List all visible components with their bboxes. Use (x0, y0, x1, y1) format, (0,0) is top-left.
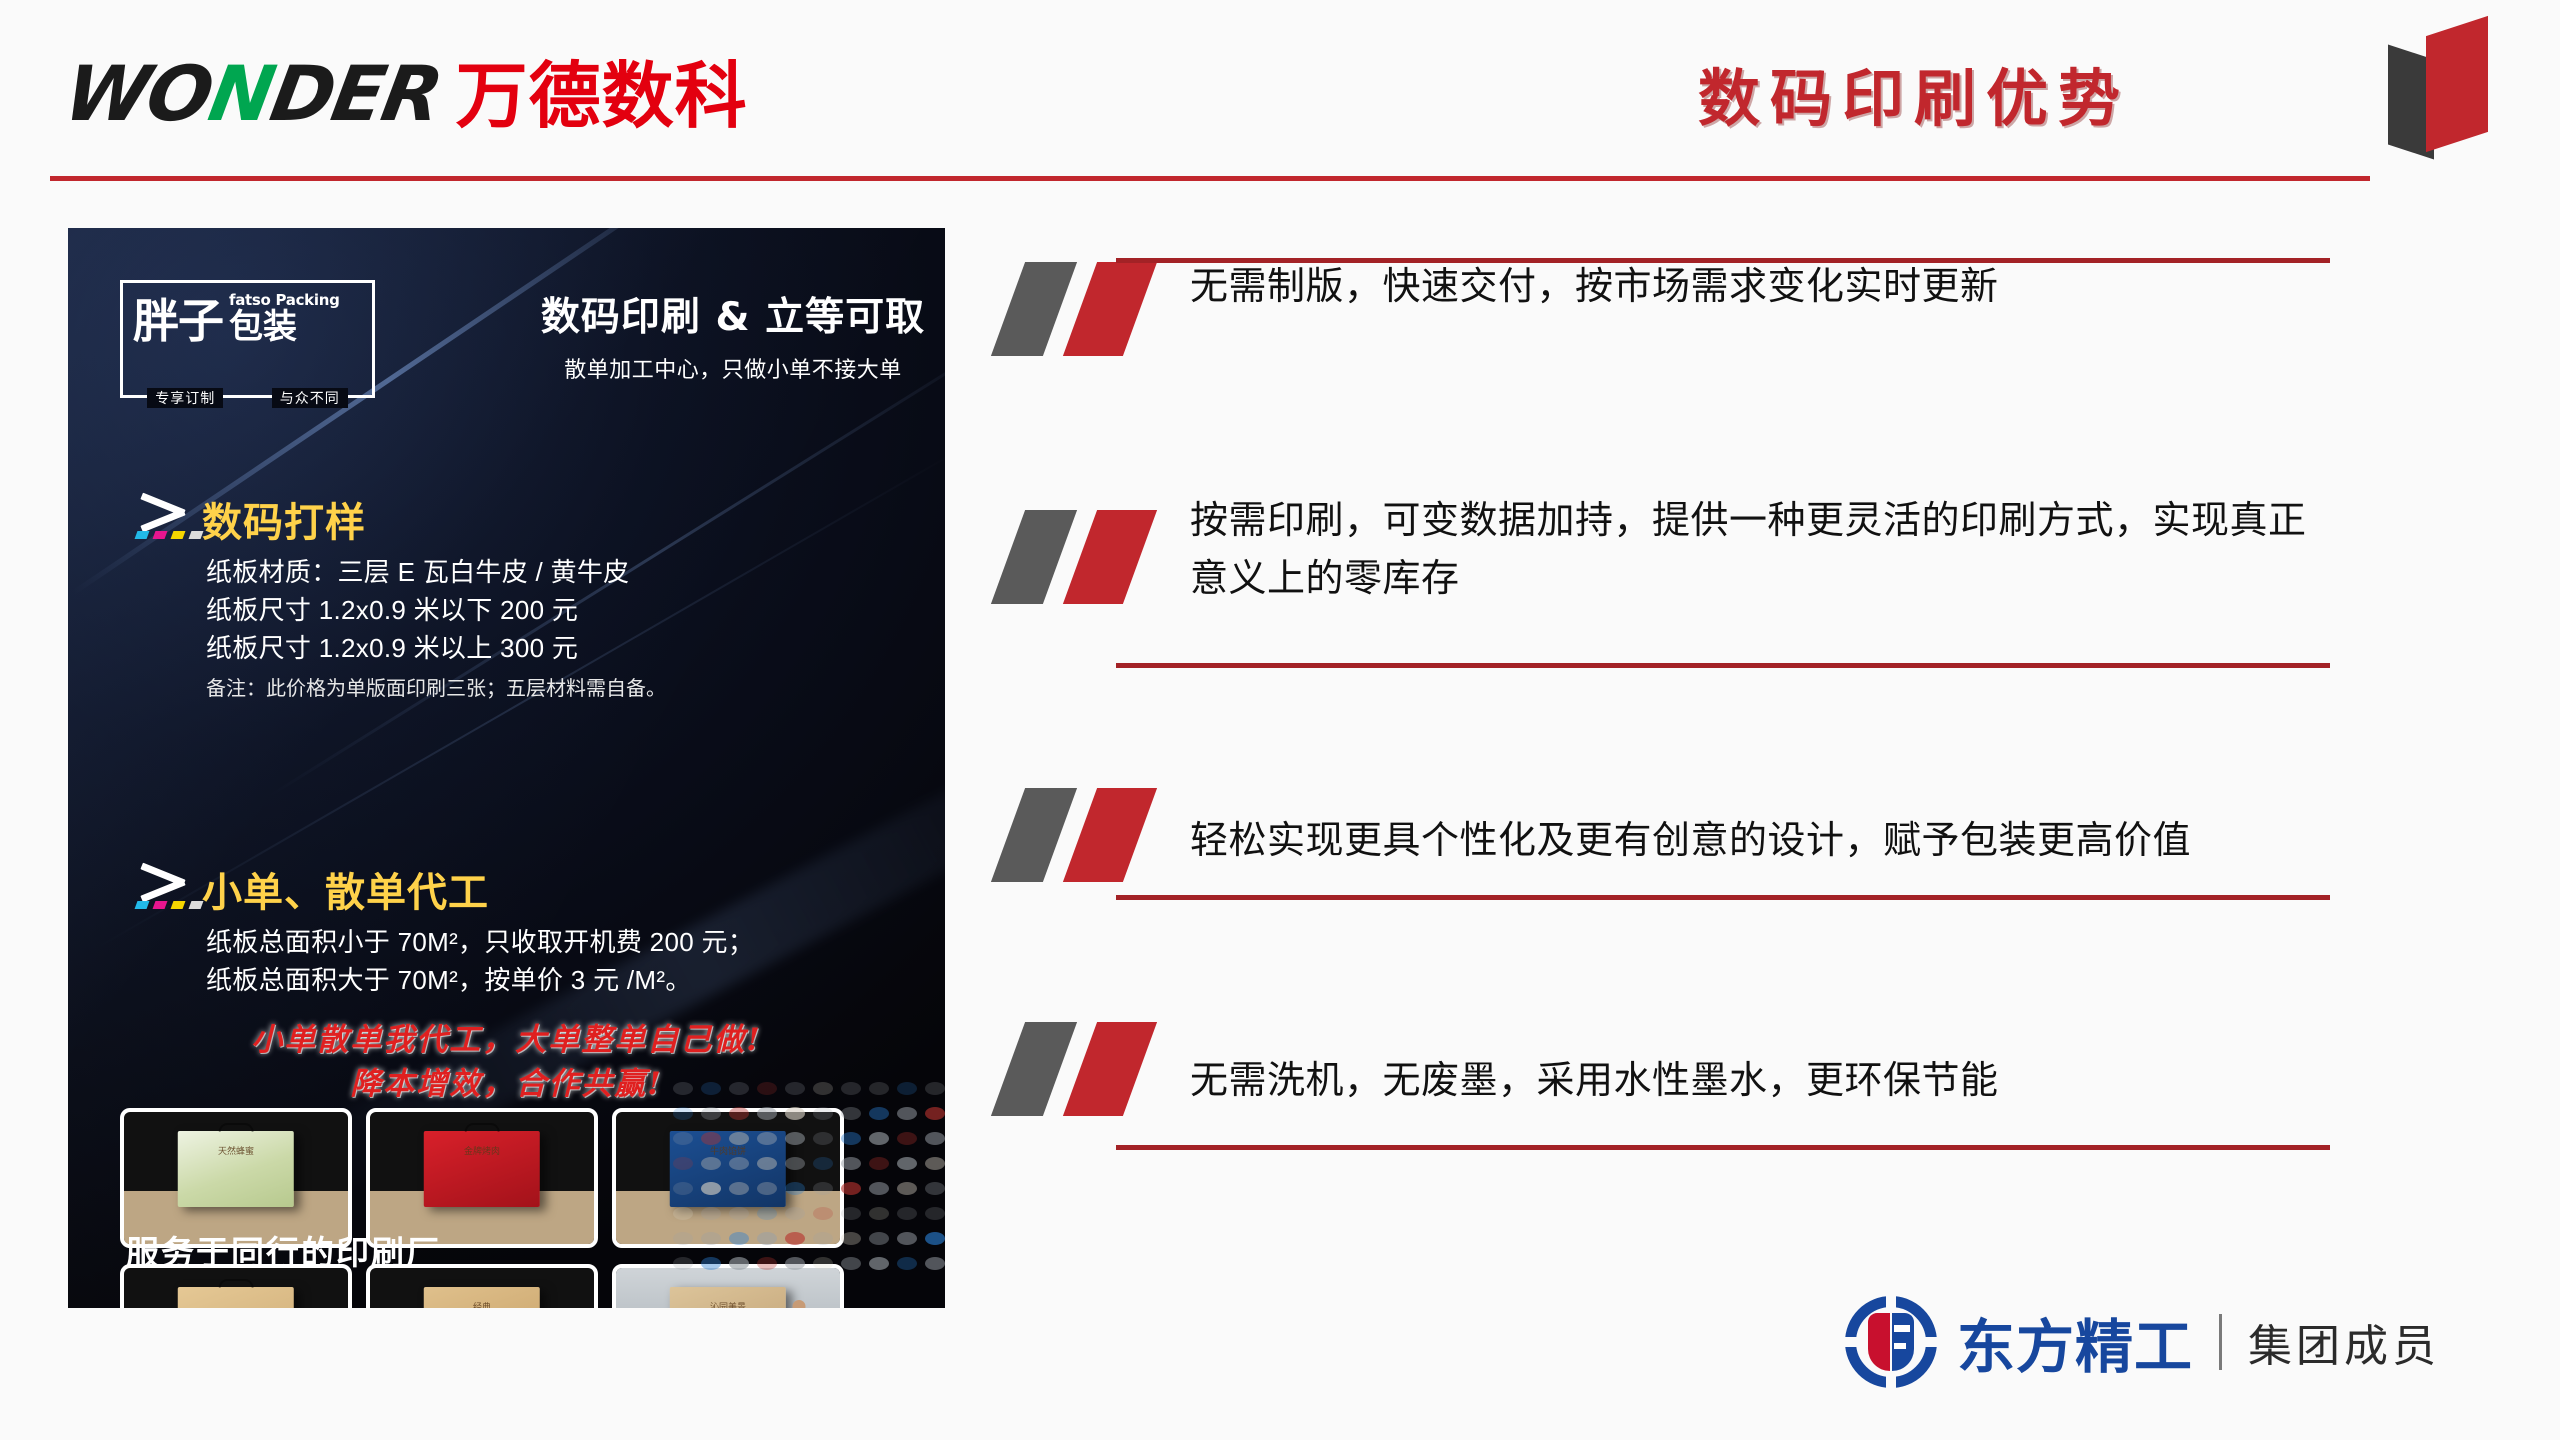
halftone-dot (869, 1182, 889, 1195)
poster-heading-title: 数码印刷 & 立等可取 (538, 286, 928, 342)
cmyk-dot-cyan (135, 901, 150, 909)
chevron-stroke-lower (140, 879, 185, 903)
poster-slogan-line: 小单散单我代工，大单整单自己做! (68, 1018, 945, 1062)
halftone-dot (673, 1257, 693, 1270)
advantage-item-1: 无需制版，快速交付，按市场需求变化实时更新 (1000, 258, 2330, 374)
photo-box-label: 金牌烤肉 (464, 1144, 500, 1157)
cmyk-dot-magenta (153, 531, 168, 539)
bullet-marker-red (1063, 510, 1157, 604)
poster-caption: 服务于同行的印刷厂 (126, 1226, 441, 1274)
photo-box-handle (465, 1123, 499, 1132)
cmyk-dot-yellow (171, 901, 186, 909)
poster-section-line: 纸板尺寸 1.2x0.9 米以上 300 元 (206, 630, 918, 668)
halftone-dot (869, 1232, 889, 1245)
halftone-dot (673, 1182, 693, 1195)
photo-box-handle (219, 1279, 253, 1288)
cmyk-dot-yellow (171, 531, 186, 539)
bullet-marker-gray (991, 788, 1077, 882)
logo-ring-gap-bottom (1886, 1374, 1896, 1390)
halftone-dot (785, 1232, 805, 1245)
poster-section-oem: 小单、散单代工 纸板总面积小于 70M²，只收取开机费 200 元； 纸板总面积… (128, 860, 918, 1000)
poster-section-title: 小单、散单代工 (202, 860, 489, 918)
photo-product-box (178, 1287, 294, 1309)
halftone-dot (785, 1107, 805, 1120)
halftone-dot (729, 1257, 749, 1270)
halftone-dot (925, 1107, 945, 1120)
fatso-tag-right: 与众不同 (272, 388, 348, 408)
halftone-dot (729, 1232, 749, 1245)
photo-product-box: 金牌烤肉 (424, 1131, 540, 1208)
halftone-dot (841, 1132, 861, 1145)
halftone-dot (757, 1082, 777, 1095)
halftone-dot (757, 1182, 777, 1195)
halftone-dot (897, 1257, 917, 1270)
halftone-dot (813, 1082, 833, 1095)
halftone-dot (869, 1157, 889, 1170)
advantage-text: 无需洗机，无废墨，采用水性墨水，更环保节能 (1190, 1018, 2330, 1122)
chevron-arrow-icon (128, 491, 202, 547)
chevron-stroke-lower (140, 509, 185, 533)
halftone-dot (673, 1157, 693, 1170)
fatso-brand-cn-left: 胖子 (133, 300, 223, 344)
logo-ring-gap-right (1923, 1337, 1939, 1347)
bullet-marker-gray (991, 262, 1077, 356)
photo-box-label: 天然蜂蜜 (218, 1144, 254, 1157)
advantage-item-4: 无需洗机，无废墨，采用水性墨水，更环保节能 (1000, 1018, 2330, 1150)
halftone-dot (841, 1082, 861, 1095)
header-divider (50, 176, 2370, 181)
poster-section-proofing: 数码打样 纸板材质：三层 E 瓦白牛皮 / 黄牛皮 纸板尺寸 1.2x0.9 米… (128, 490, 918, 701)
poster-heading-block: 数码印刷 & 立等可取 散单加工中心，只做小单不接大单 (538, 286, 928, 384)
poster-section-title: 数码打样 (202, 490, 366, 548)
poster-dot-pattern (673, 1082, 945, 1292)
halftone-dot (925, 1132, 945, 1145)
footer-company-name: 东方精工 (1957, 1300, 2193, 1384)
halftone-dot (757, 1157, 777, 1170)
slide-canvas: WONDER 万德数科 数码印刷优势 胖子 fatso Packing 包装 专… (0, 0, 2560, 1440)
poster-section-line: 纸板材质：三层 E 瓦白牛皮 / 黄牛皮 (206, 554, 918, 592)
halftone-dot (813, 1207, 833, 1220)
logo-shield-red-half (1868, 1313, 1890, 1371)
advantage-underline (1116, 663, 2330, 668)
halftone-dot (729, 1182, 749, 1195)
halftone-dot (869, 1132, 889, 1145)
advantage-text: 无需制版，快速交付，按市场需求变化实时更新 (1190, 258, 2330, 328)
halftone-dot (673, 1082, 693, 1095)
halftone-dot (813, 1132, 833, 1145)
corner-book-icon (2380, 12, 2500, 162)
fatso-brand-right: fatso Packing 包装 (229, 293, 340, 344)
footer-divider (2219, 1314, 2222, 1370)
halftone-dot (673, 1207, 693, 1220)
halftone-dot (701, 1157, 721, 1170)
footer-member-label: 集团成员 (2248, 1310, 2440, 1374)
fatso-brand-en: fatso Packing (229, 293, 340, 308)
wonder-logo-cn: 万德数科 (456, 60, 748, 132)
bullet-marker (1000, 784, 1200, 882)
halftone-dot (813, 1182, 833, 1195)
halftone-dot (785, 1082, 805, 1095)
wonder-logo-part-3: DER (265, 56, 446, 132)
logo-shield-blue-half (1892, 1313, 1914, 1371)
advantage-item-2: 按需印刷，可变数据加持，提供一种更灵活的印刷方式，实现真正意义上的零库存 (1000, 492, 2330, 668)
advantage-underline (1116, 895, 2330, 900)
halftone-dot (813, 1107, 833, 1120)
halftone-dot (869, 1107, 889, 1120)
bullet-marker (1000, 1018, 1200, 1116)
halftone-dot (729, 1132, 749, 1145)
halftone-dot (701, 1207, 721, 1220)
fatso-brand-logo: 胖子 fatso Packing 包装 专享订制 与众不同 (120, 280, 375, 398)
photo-box-label: 沁园美景 (710, 1300, 746, 1308)
halftone-dot (701, 1182, 721, 1195)
halftone-dot (701, 1107, 721, 1120)
poster-section-line: 纸板总面积小于 70M²，只收取开机费 200 元； (206, 924, 918, 962)
halftone-dot (869, 1082, 889, 1095)
halftone-dot (785, 1207, 805, 1220)
poster-heading-subtitle: 散单加工中心，只做小单不接大单 (538, 352, 928, 384)
advantage-underline (1116, 1145, 2330, 1150)
halftone-dot (701, 1082, 721, 1095)
cmyk-dot-magenta (153, 901, 168, 909)
halftone-dot (813, 1257, 833, 1270)
halftone-dot (841, 1182, 861, 1195)
advantage-text: 轻松实现更具个性化及更有创意的设计，赋予包装更高价值 (1190, 784, 2330, 882)
halftone-dot (869, 1257, 889, 1270)
wonder-logo-en: WONDER (59, 56, 446, 132)
halftone-dot (897, 1232, 917, 1245)
halftone-dot (757, 1257, 777, 1270)
photo-product-box: 天然蜂蜜 (178, 1131, 294, 1208)
logo-ring-gap-left (1843, 1337, 1859, 1347)
logo-ring-gap-top (1886, 1294, 1896, 1310)
halftone-dot (925, 1207, 945, 1220)
advantage-underline (1116, 258, 2330, 263)
fatso-brand-main: 胖子 fatso Packing 包装 (123, 283, 372, 344)
cmyk-dot-cyan (135, 531, 150, 539)
promo-poster-image: 胖子 fatso Packing 包装 专享订制 与众不同 数码印刷 & 立等可… (68, 228, 945, 1308)
bullet-marker-red (1063, 262, 1157, 356)
logo-shield (1868, 1313, 1914, 1371)
halftone-dot (869, 1207, 889, 1220)
halftone-dot (925, 1082, 945, 1095)
fatso-brand-tags: 专享订制 与众不同 (123, 388, 372, 408)
halftone-dot (841, 1107, 861, 1120)
bullet-marker-red (1063, 1022, 1157, 1116)
bullet-marker (1000, 506, 1200, 604)
cmyk-dot-key (189, 901, 204, 909)
poster-section-line: 纸板尺寸 1.2x0.9 米以下 200 元 (206, 592, 918, 630)
halftone-dot (701, 1232, 721, 1245)
halftone-dot (757, 1232, 777, 1245)
fatso-brand-cn-right: 包装 (229, 310, 340, 344)
photo-box-label: 经典 (473, 1300, 491, 1308)
photo-box-handle (219, 1123, 253, 1132)
halftone-dot (785, 1132, 805, 1145)
halftone-dot (701, 1257, 721, 1270)
poster-section-header: 小单、散单代工 (128, 860, 918, 918)
footer-group-branding: 东方精工 集团成员 (1845, 1296, 2440, 1388)
bullet-marker-gray (991, 1022, 1077, 1116)
halftone-dot (729, 1107, 749, 1120)
halftone-dot (925, 1232, 945, 1245)
halftone-dot (841, 1232, 861, 1245)
halftone-dot (925, 1257, 945, 1270)
halftone-dot (925, 1157, 945, 1170)
poster-section-line: 纸板总面积大于 70M²，按单价 3 元 /M²。 (206, 962, 918, 1000)
halftone-dot (757, 1207, 777, 1220)
bullet-marker (1000, 258, 1200, 356)
halftone-dot (897, 1132, 917, 1145)
halftone-dot (785, 1182, 805, 1195)
halftone-dot (673, 1232, 693, 1245)
halftone-dot (729, 1082, 749, 1095)
halftone-dot (841, 1257, 861, 1270)
advantage-text: 按需印刷，可变数据加持，提供一种更灵活的印刷方式，实现真正意义上的零库存 (1190, 492, 2330, 620)
halftone-dot (841, 1157, 861, 1170)
halftone-dot (757, 1132, 777, 1145)
halftone-dot (897, 1157, 917, 1170)
halftone-dot (897, 1182, 917, 1195)
halftone-dot (701, 1132, 721, 1145)
halftone-dot (757, 1107, 777, 1120)
halftone-dot (785, 1257, 805, 1270)
advantages-list: 无需制版，快速交付，按市场需求变化实时更新 按需印刷，可变数据加持，提供一种更灵… (1000, 258, 2330, 1150)
bullet-marker-gray (991, 510, 1077, 604)
halftone-dot (673, 1107, 693, 1120)
halftone-dot (813, 1157, 833, 1170)
fatso-tag-left: 专享订制 (147, 388, 223, 408)
cmyk-dot-key (189, 531, 204, 539)
halftone-dot (673, 1132, 693, 1145)
halftone-dot (897, 1107, 917, 1120)
wonder-logo: WONDER 万德数科 (66, 56, 748, 132)
photo-product-box: 经典 (424, 1287, 540, 1309)
poster-section-header: 数码打样 (128, 490, 918, 548)
poster-section-note: 备注：此价格为单版面印刷三张；五层材料需自备。 (206, 672, 918, 701)
halftone-dot (785, 1157, 805, 1170)
halftone-dot (813, 1232, 833, 1245)
poster-section-body: 纸板总面积小于 70M²，只收取开机费 200 元； 纸板总面积大于 70M²，… (206, 924, 918, 1000)
halftone-dot (729, 1207, 749, 1220)
halftone-dot (897, 1207, 917, 1220)
dongfang-logo-icon (1845, 1296, 1937, 1388)
halftone-dot (841, 1207, 861, 1220)
wonder-logo-part-1: WO (59, 56, 217, 132)
poster-section-body: 纸板材质：三层 E 瓦白牛皮 / 黄牛皮 纸板尺寸 1.2x0.9 米以下 20… (206, 554, 918, 701)
advantage-item-3: 轻松实现更具个性化及更有创意的设计，赋予包装更高价值 (1000, 784, 2330, 900)
page-title: 数码印刷优势 (1698, 48, 2130, 138)
halftone-dot (897, 1082, 917, 1095)
chevron-arrow-icon (128, 861, 202, 917)
bullet-marker-red (1063, 788, 1157, 882)
halftone-dot (925, 1182, 945, 1195)
halftone-dot (729, 1157, 749, 1170)
corner-book-red-panel (2426, 16, 2488, 152)
